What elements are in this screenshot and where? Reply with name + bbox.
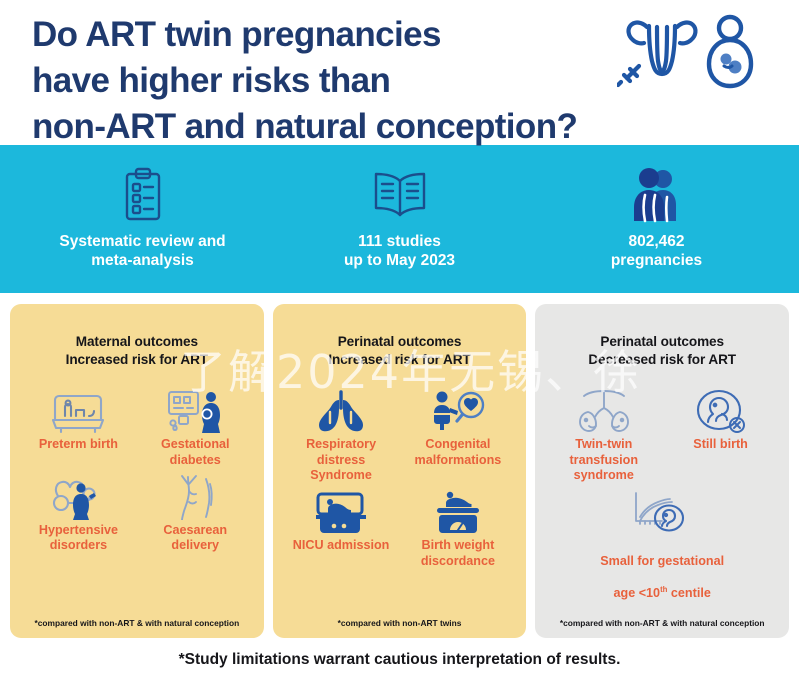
glucose-monitor-pregnant-icon xyxy=(166,387,224,434)
item-nicu-admission: NICU admission xyxy=(283,488,400,569)
card-perinatal-increased: Perinatal outcomes Increased risk for AR… xyxy=(273,304,527,638)
card-maternal-outcomes: Maternal outcomes Increased risk for ART… xyxy=(10,304,264,638)
item-congenital-malformations: Congenital malformations xyxy=(400,387,517,483)
item-label: NICU admission xyxy=(293,538,390,553)
item-label: Respiratory distress Syndrome xyxy=(283,437,400,483)
item-hypertensive-disorders: Hypertensive disorders xyxy=(20,473,137,554)
twin-fetuses-placenta-icon xyxy=(572,387,636,434)
item-label: Twin-twin transfusion syndrome xyxy=(569,437,638,483)
item-label: Preterm birth xyxy=(39,437,118,452)
item-twin-twin-transfusion: Twin-twin transfusion syndrome xyxy=(545,387,662,483)
card-title: Perinatal outcomes Decreased risk for AR… xyxy=(545,333,779,369)
card-items: Preterm birth xyxy=(20,369,254,618)
sga-label-line2: age <10th centile xyxy=(614,586,711,600)
item-gestational-diabetes: Gestational diabetes xyxy=(137,387,254,468)
card-footnote: *compared with non-ART & with natural co… xyxy=(20,618,254,630)
card-perinatal-decreased: Perinatal outcomes Decreased risk for AR… xyxy=(535,304,789,638)
stat-studies-count: 111 studies up to May 2023 xyxy=(271,167,528,271)
card-title: Perinatal outcomes Increased risk for AR… xyxy=(283,333,517,369)
item-label: Small for gestational age <10th centile xyxy=(600,538,724,601)
item-label: Gestational diabetes xyxy=(161,437,230,468)
incubator-crib-icon xyxy=(51,387,105,434)
card-items: Respiratory distress Syndrome xyxy=(283,369,517,618)
item-label: Caesarean delivery xyxy=(163,523,227,554)
header: Do ART twin pregnancies have higher risk… xyxy=(0,0,799,145)
baby-weight-scale-icon xyxy=(432,488,484,535)
uterus-syringe-icon xyxy=(617,14,699,95)
lungs-icon xyxy=(315,387,367,434)
header-icon-group xyxy=(617,8,779,95)
item-birth-weight-discordance: Birth weight discordance xyxy=(400,488,517,569)
open-book-icon xyxy=(371,167,429,223)
two-people-icon xyxy=(631,167,683,223)
stat-label: 111 studies up to May 2023 xyxy=(344,233,455,271)
item-label: Hypertensive disorders xyxy=(39,523,118,554)
ordinal-suffix: th xyxy=(660,584,667,593)
stat-systematic-review: Systematic review and meta-analysis xyxy=(14,167,271,271)
item-label: Congenital malformations xyxy=(415,437,502,468)
item-small-for-gestational-age: Small for gestational age <10th centile xyxy=(545,488,779,601)
item-label: Birth weight discordance xyxy=(421,538,495,569)
page-title: Do ART twin pregnancies have higher risk… xyxy=(32,8,577,150)
item-respiratory-distress: Respiratory distress Syndrome xyxy=(283,387,400,483)
sga-label-line1: Small for gestational xyxy=(600,554,724,568)
caesarean-scar-icon xyxy=(170,473,220,520)
pregnant-woman-twins-icon xyxy=(705,14,755,95)
item-label: Still birth xyxy=(693,437,748,452)
card-footnote: *compared with non-ART twins xyxy=(283,618,517,630)
study-limitations-footer: *Study limitations warrant cautious inte… xyxy=(0,638,799,669)
blood-pressure-pregnant-icon xyxy=(48,473,108,520)
card-title: Maternal outcomes Increased risk for ART xyxy=(20,333,254,369)
item-still-birth: Still birth xyxy=(662,387,779,483)
stat-pregnancies-count: 802,462 pregnancies xyxy=(528,167,785,271)
nicu-incubator-icon xyxy=(314,488,368,535)
fetus-cross-icon xyxy=(694,387,748,434)
stat-label: 802,462 pregnancies xyxy=(611,233,702,271)
outcome-cards: Maternal outcomes Increased risk for ART… xyxy=(0,293,799,638)
card-footnote: *compared with non-ART & with natural co… xyxy=(545,618,779,630)
baby-magnifier-heart-icon xyxy=(428,387,488,434)
card-items: Twin-twin transfusion syndrome Still bir… xyxy=(545,369,779,618)
item-caesarean-delivery: Caesarean delivery xyxy=(137,473,254,554)
growth-chart-fetus-icon xyxy=(624,488,700,535)
stats-band: Systematic review and meta-analysis 111 … xyxy=(0,145,799,293)
item-preterm-birth: Preterm birth xyxy=(20,387,137,468)
stat-label: Systematic review and meta-analysis xyxy=(59,233,225,271)
clipboard-checklist-icon xyxy=(121,167,165,223)
